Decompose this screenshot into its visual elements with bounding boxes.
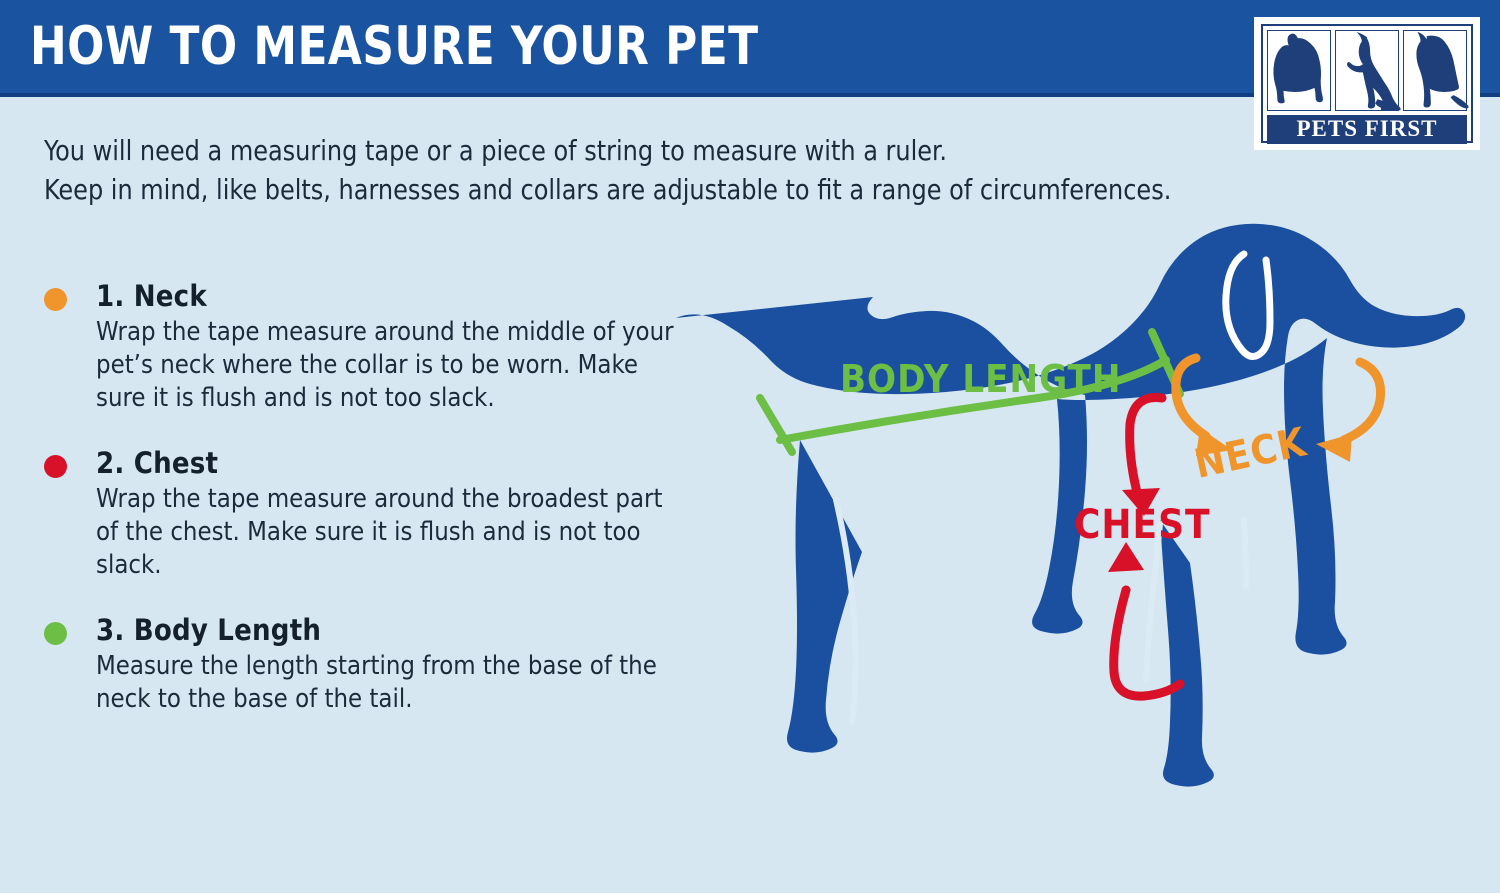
- step-title-chest: 2. Chest: [96, 445, 682, 481]
- intro-line-1: You will need a measuring tape or a piec…: [44, 132, 1324, 171]
- step-text-chest: Wrap the tape measure around the broades…: [96, 483, 676, 582]
- infographic-page: HOW TO MEASURE YOUR PET: [0, 0, 1500, 893]
- page-title: HOW TO MEASURE YOUR PET: [30, 16, 759, 77]
- step-body-body-length: 3. Body Length Measure the length starti…: [96, 612, 682, 716]
- logo-frame: PETS FIRST: [1261, 24, 1473, 143]
- step-title-neck: 1. Neck: [96, 278, 682, 314]
- step-body-chest: 2. Chest Wrap the tape measure around th…: [96, 445, 682, 582]
- step-text-body-length: Measure the length starting from the bas…: [96, 650, 676, 716]
- step-body-neck: 1. Neck Wrap the tape measure around the…: [96, 278, 682, 415]
- logo-panel-dog-howling: [1335, 30, 1399, 111]
- label-body-length: BODY LENGTH: [840, 357, 1121, 401]
- step-title-body-length: 3. Body Length: [96, 612, 682, 648]
- dog-measurement-diagram: BODY LENGTH NECK CHEST: [640, 190, 1500, 890]
- step-item-chest: 2. Chest Wrap the tape measure around th…: [42, 445, 682, 582]
- logo-panel-dog-sitting: [1403, 30, 1467, 111]
- dog-lying-icon: [1268, 31, 1330, 110]
- brand-logo: PETS FIRST: [1254, 17, 1480, 150]
- dog-sitting-icon: [1404, 31, 1466, 110]
- measurement-steps: 1. Neck Wrap the tape measure around the…: [42, 278, 682, 746]
- dog-silhouette: [676, 224, 1465, 787]
- bullet-neck: [44, 288, 67, 311]
- label-chest: CHEST: [1074, 502, 1211, 548]
- step-item-neck: 1. Neck Wrap the tape measure around the…: [42, 278, 682, 415]
- step-text-neck: Wrap the tape measure around the middle …: [96, 316, 676, 415]
- logo-panel-dog-lying: [1267, 30, 1331, 111]
- dog-howling-icon: [1336, 31, 1398, 110]
- logo-panels: [1267, 30, 1467, 111]
- bullet-body-length: [44, 622, 67, 645]
- step-item-body-length: 3. Body Length Measure the length starti…: [42, 612, 682, 716]
- bullet-chest: [44, 455, 67, 478]
